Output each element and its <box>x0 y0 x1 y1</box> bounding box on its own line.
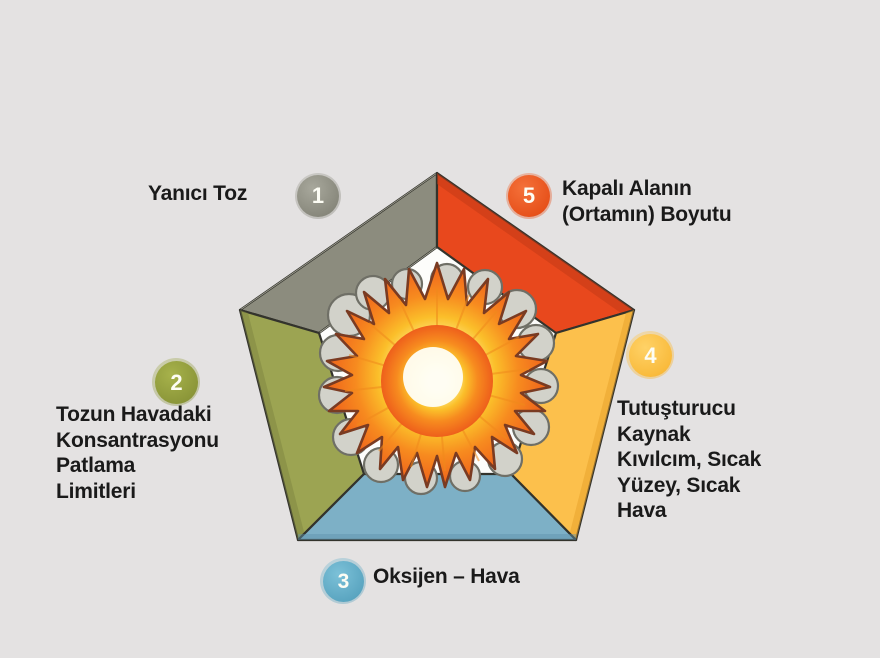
badge-number-5[interactable]: 5 <box>508 175 550 217</box>
badge-number-4[interactable]: 4 <box>629 334 672 377</box>
segment-label-4: Tutuşturucu Kaynak Kıvılcım, Sıcak Yüzey… <box>617 396 761 524</box>
badge-4-number: 4 <box>644 343 656 369</box>
badge-number-2[interactable]: 2 <box>155 361 198 404</box>
badge-number-3[interactable]: 3 <box>323 561 364 602</box>
badge-1-number: 1 <box>312 183 324 209</box>
explosion-core-hot <box>403 347 463 407</box>
diagram-canvas: 1 2 3 4 5 Yanıcı Toz Tozun Havadaki Kons… <box>0 0 880 658</box>
segment-3-edge-shade <box>298 534 576 540</box>
badge-2-number: 2 <box>170 370 182 396</box>
badge-3-number: 3 <box>338 570 350 594</box>
badge-number-1[interactable]: 1 <box>297 175 339 217</box>
badge-5-number: 5 <box>523 183 535 209</box>
segment-label-5: Kapalı Alanın (Ortamın) Boyutu <box>562 176 731 227</box>
segment-label-3: Oksijen – Hava <box>373 564 520 590</box>
segment-label-2: Tozun Havadaki Konsantrasyonu Patlama Li… <box>56 402 219 504</box>
segment-label-1: Yanıcı Toz <box>148 181 247 207</box>
pentagon-diagram-svg <box>0 0 880 658</box>
